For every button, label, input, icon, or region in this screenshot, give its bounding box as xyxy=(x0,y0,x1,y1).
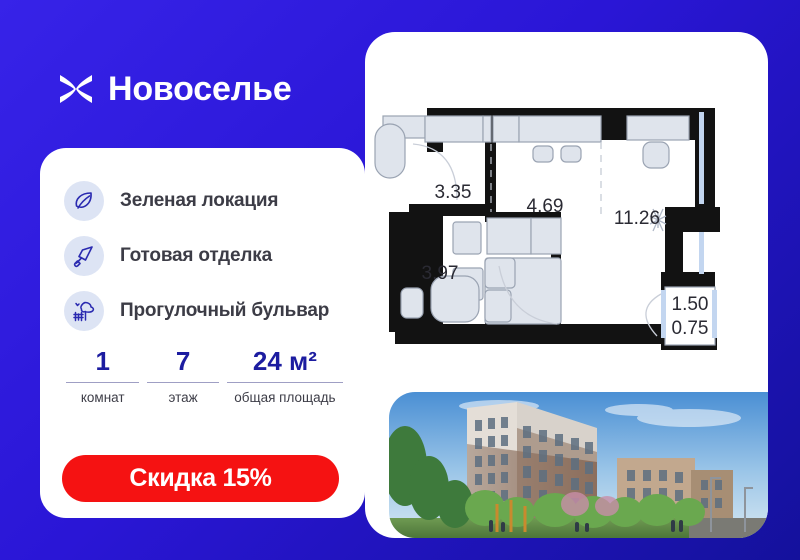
stat-area-unit: м² xyxy=(289,346,317,376)
feature-label: Зеленая локация xyxy=(120,190,278,211)
stat-label: общая площадь xyxy=(223,390,347,406)
advertisement-card: 3.35 4.69 11.26 3.97 1.50 0.75 xyxy=(0,0,800,560)
brand-name: Новоселье xyxy=(108,72,292,106)
apartment-stats: 1 комнат 7 этаж 24 м² общая площадь xyxy=(62,348,347,406)
feature-item-boulevard[interactable]: Прогулочный бульвар xyxy=(64,290,349,332)
area-label-living: 11.26 xyxy=(614,208,660,229)
stat-floor: 7 этаж xyxy=(143,348,222,406)
feature-label: Прогулочный бульвар xyxy=(120,300,329,321)
stat-value: 24 м² xyxy=(223,348,347,374)
stat-label: этаж xyxy=(143,390,222,406)
stat-divider xyxy=(66,382,139,383)
leaf-icon xyxy=(64,181,104,221)
discount-badge[interactable]: Скидка 15% xyxy=(62,455,339,502)
feature-label: Готовая отделка xyxy=(120,245,272,266)
area-label-kitchen: 4.69 xyxy=(527,196,564,217)
floorplan-panel: 3.35 4.69 11.26 3.97 1.50 0.75 xyxy=(365,32,768,538)
floor-plan[interactable]: 3.35 4.69 11.26 3.97 1.50 0.75 xyxy=(365,32,768,392)
feature-item-green-location[interactable]: Зеленая локация xyxy=(64,180,349,222)
feature-item-finished-renovation[interactable]: Готовая отделка xyxy=(64,235,349,277)
balcony-area-label: 0.75 xyxy=(672,318,709,339)
brand-logo[interactable]: Новоселье xyxy=(58,72,292,106)
x-mark-icon xyxy=(58,72,94,106)
balcony-length-label: 1.50 xyxy=(672,294,709,315)
stat-value: 1 xyxy=(62,348,143,374)
stat-rooms: 1 комнат xyxy=(62,348,143,406)
stat-label: комнат xyxy=(62,390,143,406)
area-label-bathroom: 3.97 xyxy=(422,263,459,284)
stat-area-number: 24 xyxy=(253,346,282,376)
trowel-icon xyxy=(64,236,104,276)
complex-photo[interactable] xyxy=(389,392,768,538)
stat-divider xyxy=(227,382,343,383)
features-list: Зеленая локация Готовая отделка xyxy=(64,180,349,345)
stat-total-area: 24 м² общая площадь xyxy=(223,348,347,406)
area-label-hall: 3.35 xyxy=(435,182,472,203)
info-card: Зеленая локация Готовая отделка xyxy=(40,148,365,518)
stat-value: 7 xyxy=(143,348,222,374)
stat-divider xyxy=(147,382,218,383)
bench-tree-icon xyxy=(64,291,104,331)
